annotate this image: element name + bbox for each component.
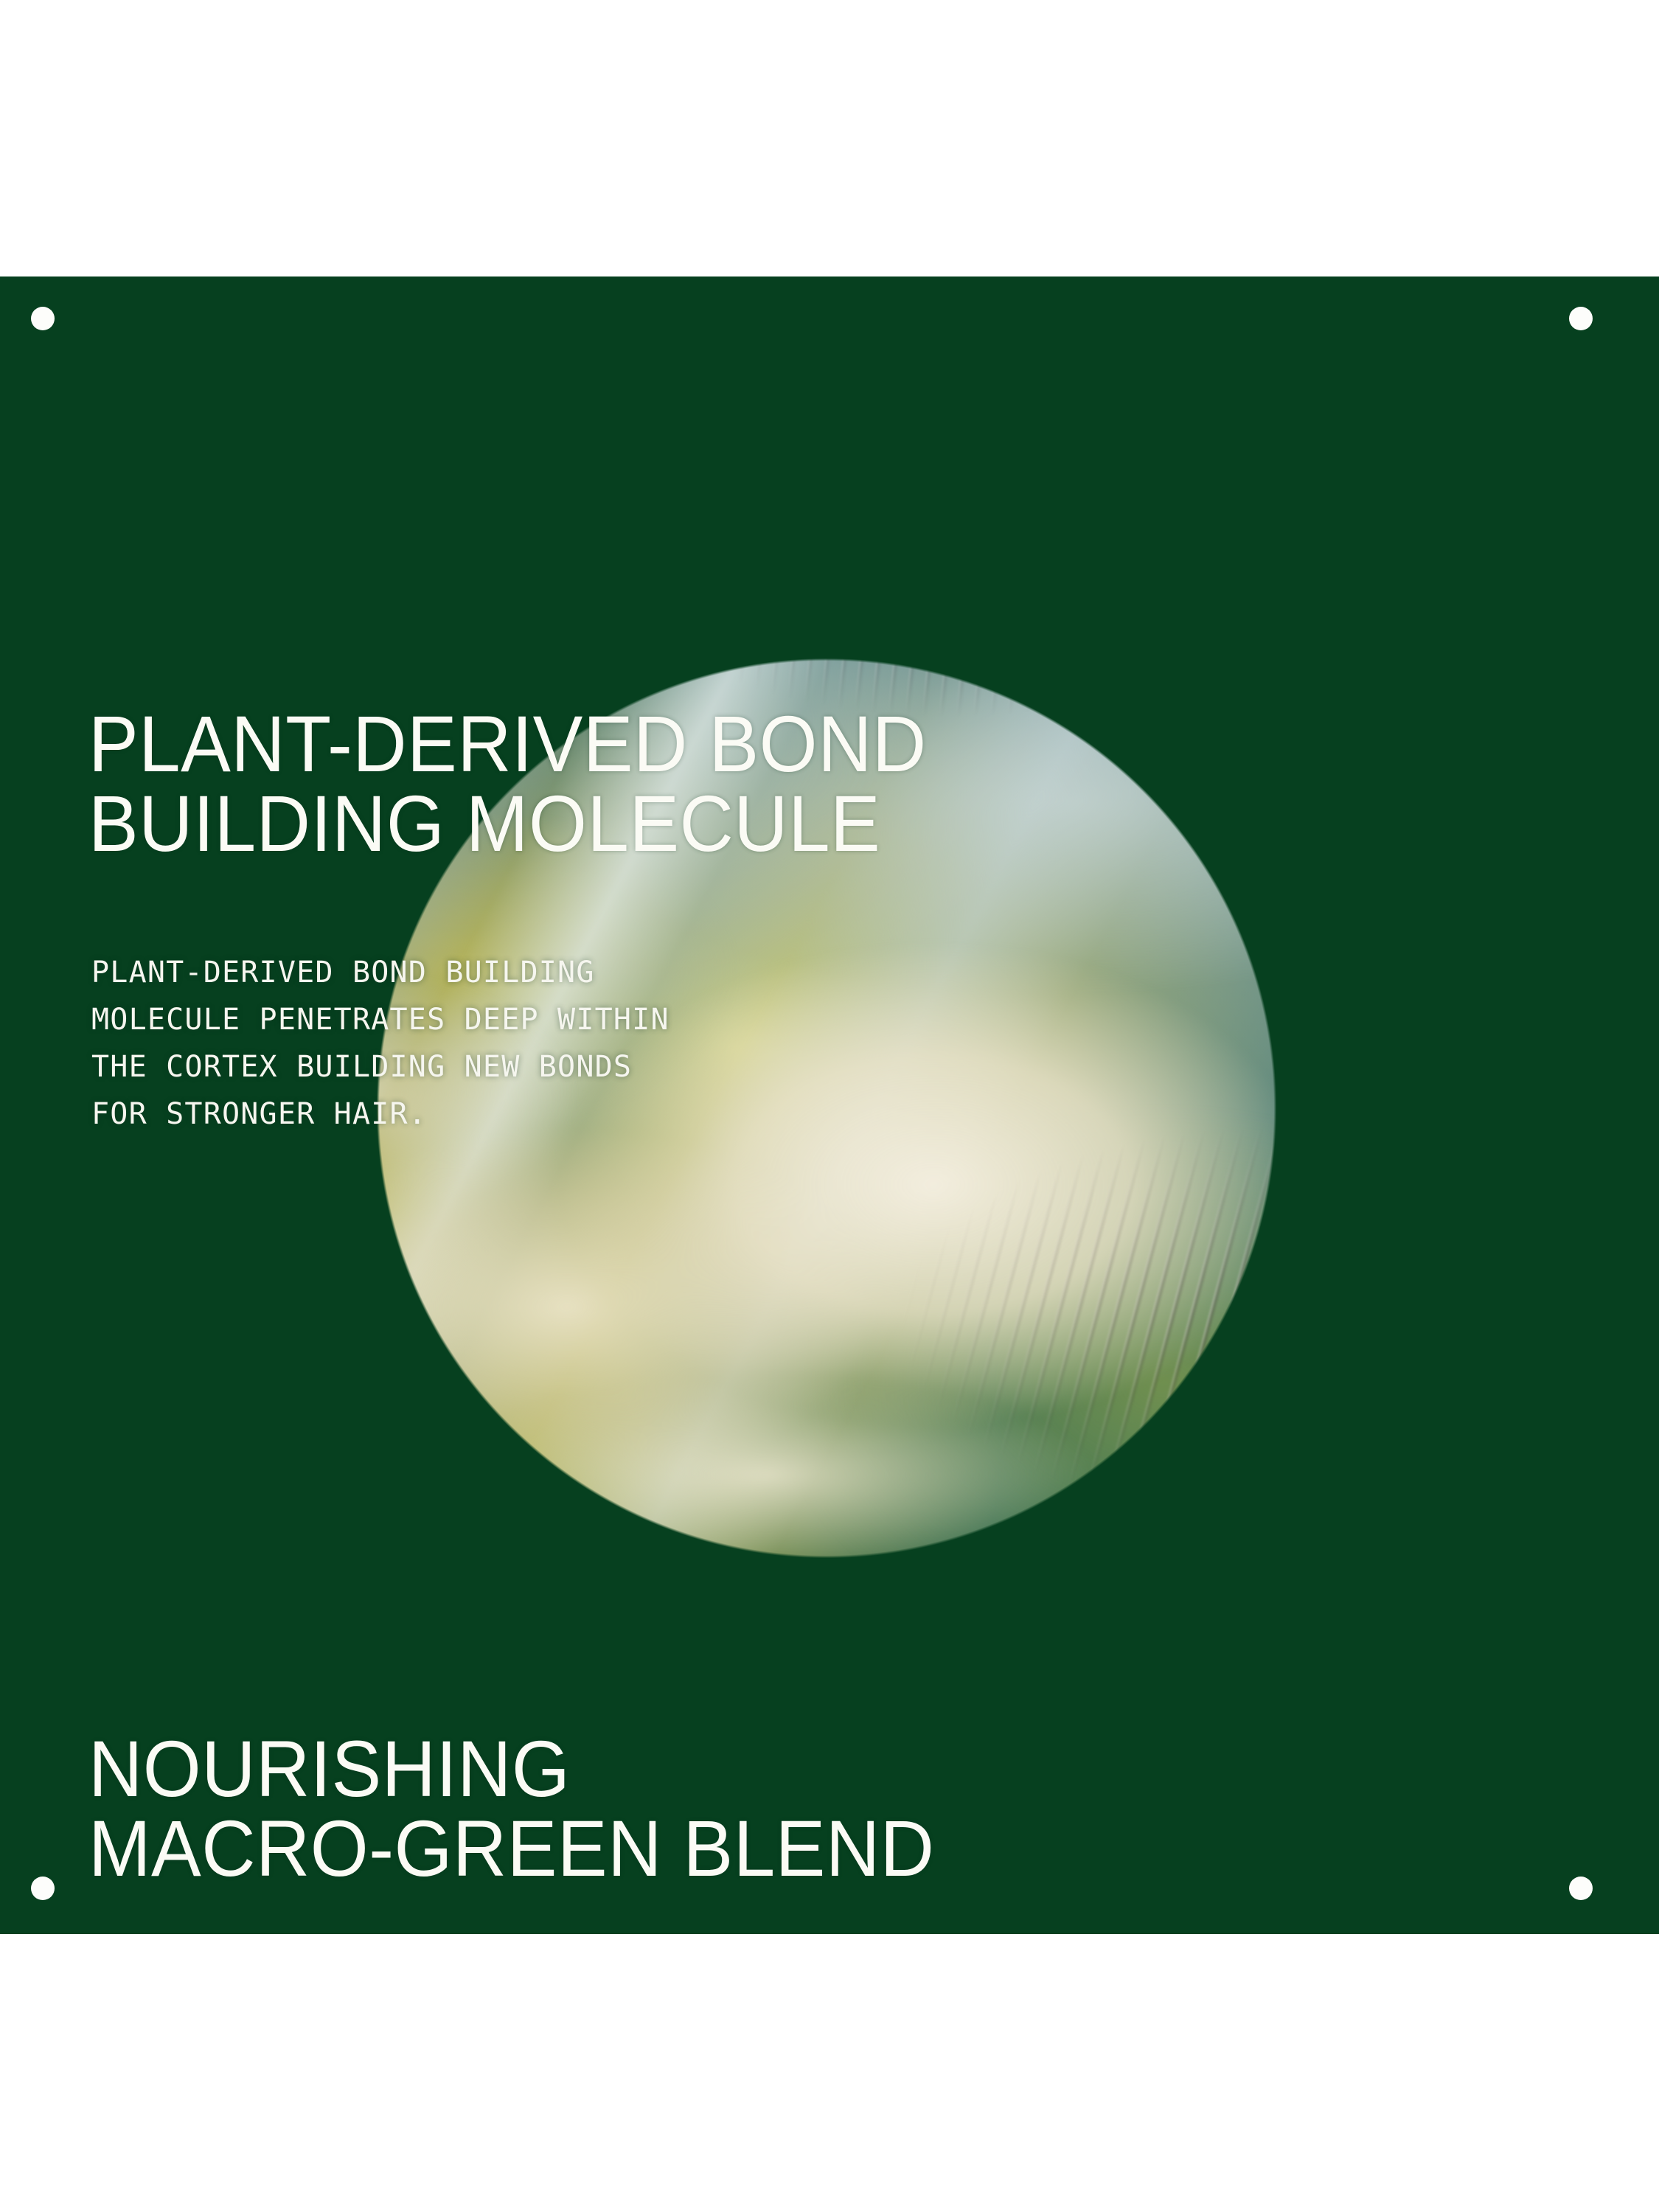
page-canvas: PLANT-DERIVED BOND BUILDING MOLECULE PLA… <box>0 0 1659 2212</box>
benefit-heading-bond-building: PLANT-DERIVED BOND BUILDING MOLECULE <box>88 704 927 863</box>
benefit-body-bond-building: PLANT-DERIVED BOND BUILDING MOLECULE PEN… <box>91 949 669 1138</box>
panel-text-content: PLANT-DERIVED BOND BUILDING MOLECULE PLA… <box>0 276 1659 1934</box>
product-benefits-panel: PLANT-DERIVED BOND BUILDING MOLECULE PLA… <box>0 276 1659 1934</box>
benefit-heading-macro-green: NOURISHING MACRO-GREEN BLEND <box>88 1729 934 1888</box>
